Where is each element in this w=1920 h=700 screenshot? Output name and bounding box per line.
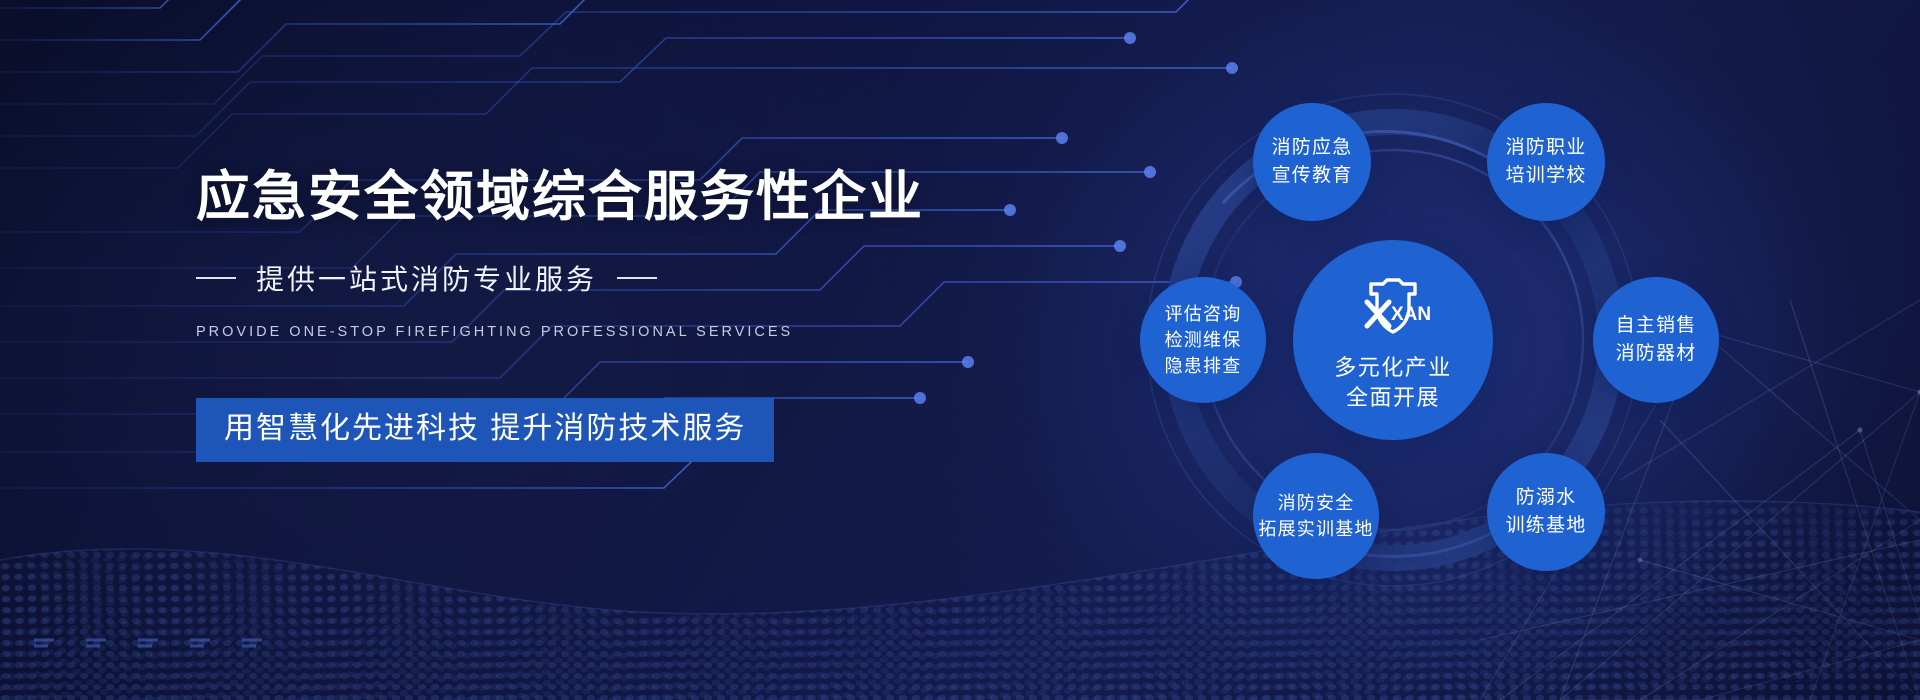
dash-marks (34, 640, 262, 646)
shield-xan-icon: XAN (1355, 268, 1431, 344)
hero-banner: 应急安全领域综合服务性企业 提供一站式消防专业服务 PROVIDE ONE-ST… (0, 0, 1920, 700)
subheadline-row: 提供一站式消防专业服务 (196, 258, 956, 298)
services-diagram: XAN 多元化产业 全面开展 消防应急 宣传教育 消防职业 培训学校 评估咨询 … (1105, 55, 1765, 655)
service-node-fire-emergency-education[interactable]: 消防应急 宣传教育 (1253, 103, 1371, 221)
node-line-2: 训练基地 (1506, 512, 1587, 540)
page-title: 应急安全领域综合服务性企业 (196, 166, 956, 230)
node-line-1: 消防安全 (1278, 490, 1355, 516)
node-line-2: 检测维保 (1165, 327, 1242, 353)
logo-text: XAN (1391, 304, 1431, 325)
english-tagline: PROVIDE ONE-STOP FIREFIGHTING PROFESSION… (196, 324, 956, 340)
service-node-assessment-inspection[interactable]: 评估咨询 检测维保 隐患排查 (1140, 277, 1266, 403)
node-line-2: 消防器材 (1616, 340, 1697, 368)
node-line-1: 自主销售 (1616, 312, 1697, 340)
cta-button[interactable]: 用智慧化先进科技 提升消防技术服务 (196, 398, 774, 462)
node-line-3: 隐患排查 (1165, 353, 1242, 379)
node-line-1: 评估咨询 (1165, 301, 1242, 327)
node-line-2: 宣传教育 (1272, 162, 1353, 190)
subheadline: 提供一站式消防专业服务 (256, 258, 597, 298)
diagram-center-node[interactable]: XAN 多元化产业 全面开展 (1293, 240, 1493, 440)
service-node-vocational-training-school[interactable]: 消防职业 培训学校 (1487, 103, 1605, 221)
node-line-1: 消防应急 (1272, 134, 1353, 162)
center-node-label: 多元化产业 全面开展 (1334, 353, 1452, 412)
node-line-2: 培训学校 (1506, 162, 1587, 190)
service-node-equipment-sales[interactable]: 自主销售 消防器材 (1593, 277, 1719, 403)
service-node-drowning-prevention-base[interactable]: 防溺水 训练基地 (1487, 453, 1605, 571)
dash-right-icon (617, 277, 657, 279)
node-line-1: 防溺水 (1516, 484, 1577, 512)
node-line-2: 拓展实训基地 (1258, 516, 1373, 542)
shield-logo-icon: XAN (1355, 268, 1431, 349)
hero-text-block: 应急安全领域综合服务性企业 提供一站式消防专业服务 PROVIDE ONE-ST… (196, 166, 956, 462)
dash-left-icon (196, 277, 236, 279)
service-node-safety-training-base[interactable]: 消防安全 拓展实训基地 (1253, 453, 1379, 579)
center-line-1: 多元化产业 (1334, 353, 1452, 383)
center-line-2: 全面开展 (1334, 383, 1452, 413)
node-line-1: 消防职业 (1506, 134, 1587, 162)
